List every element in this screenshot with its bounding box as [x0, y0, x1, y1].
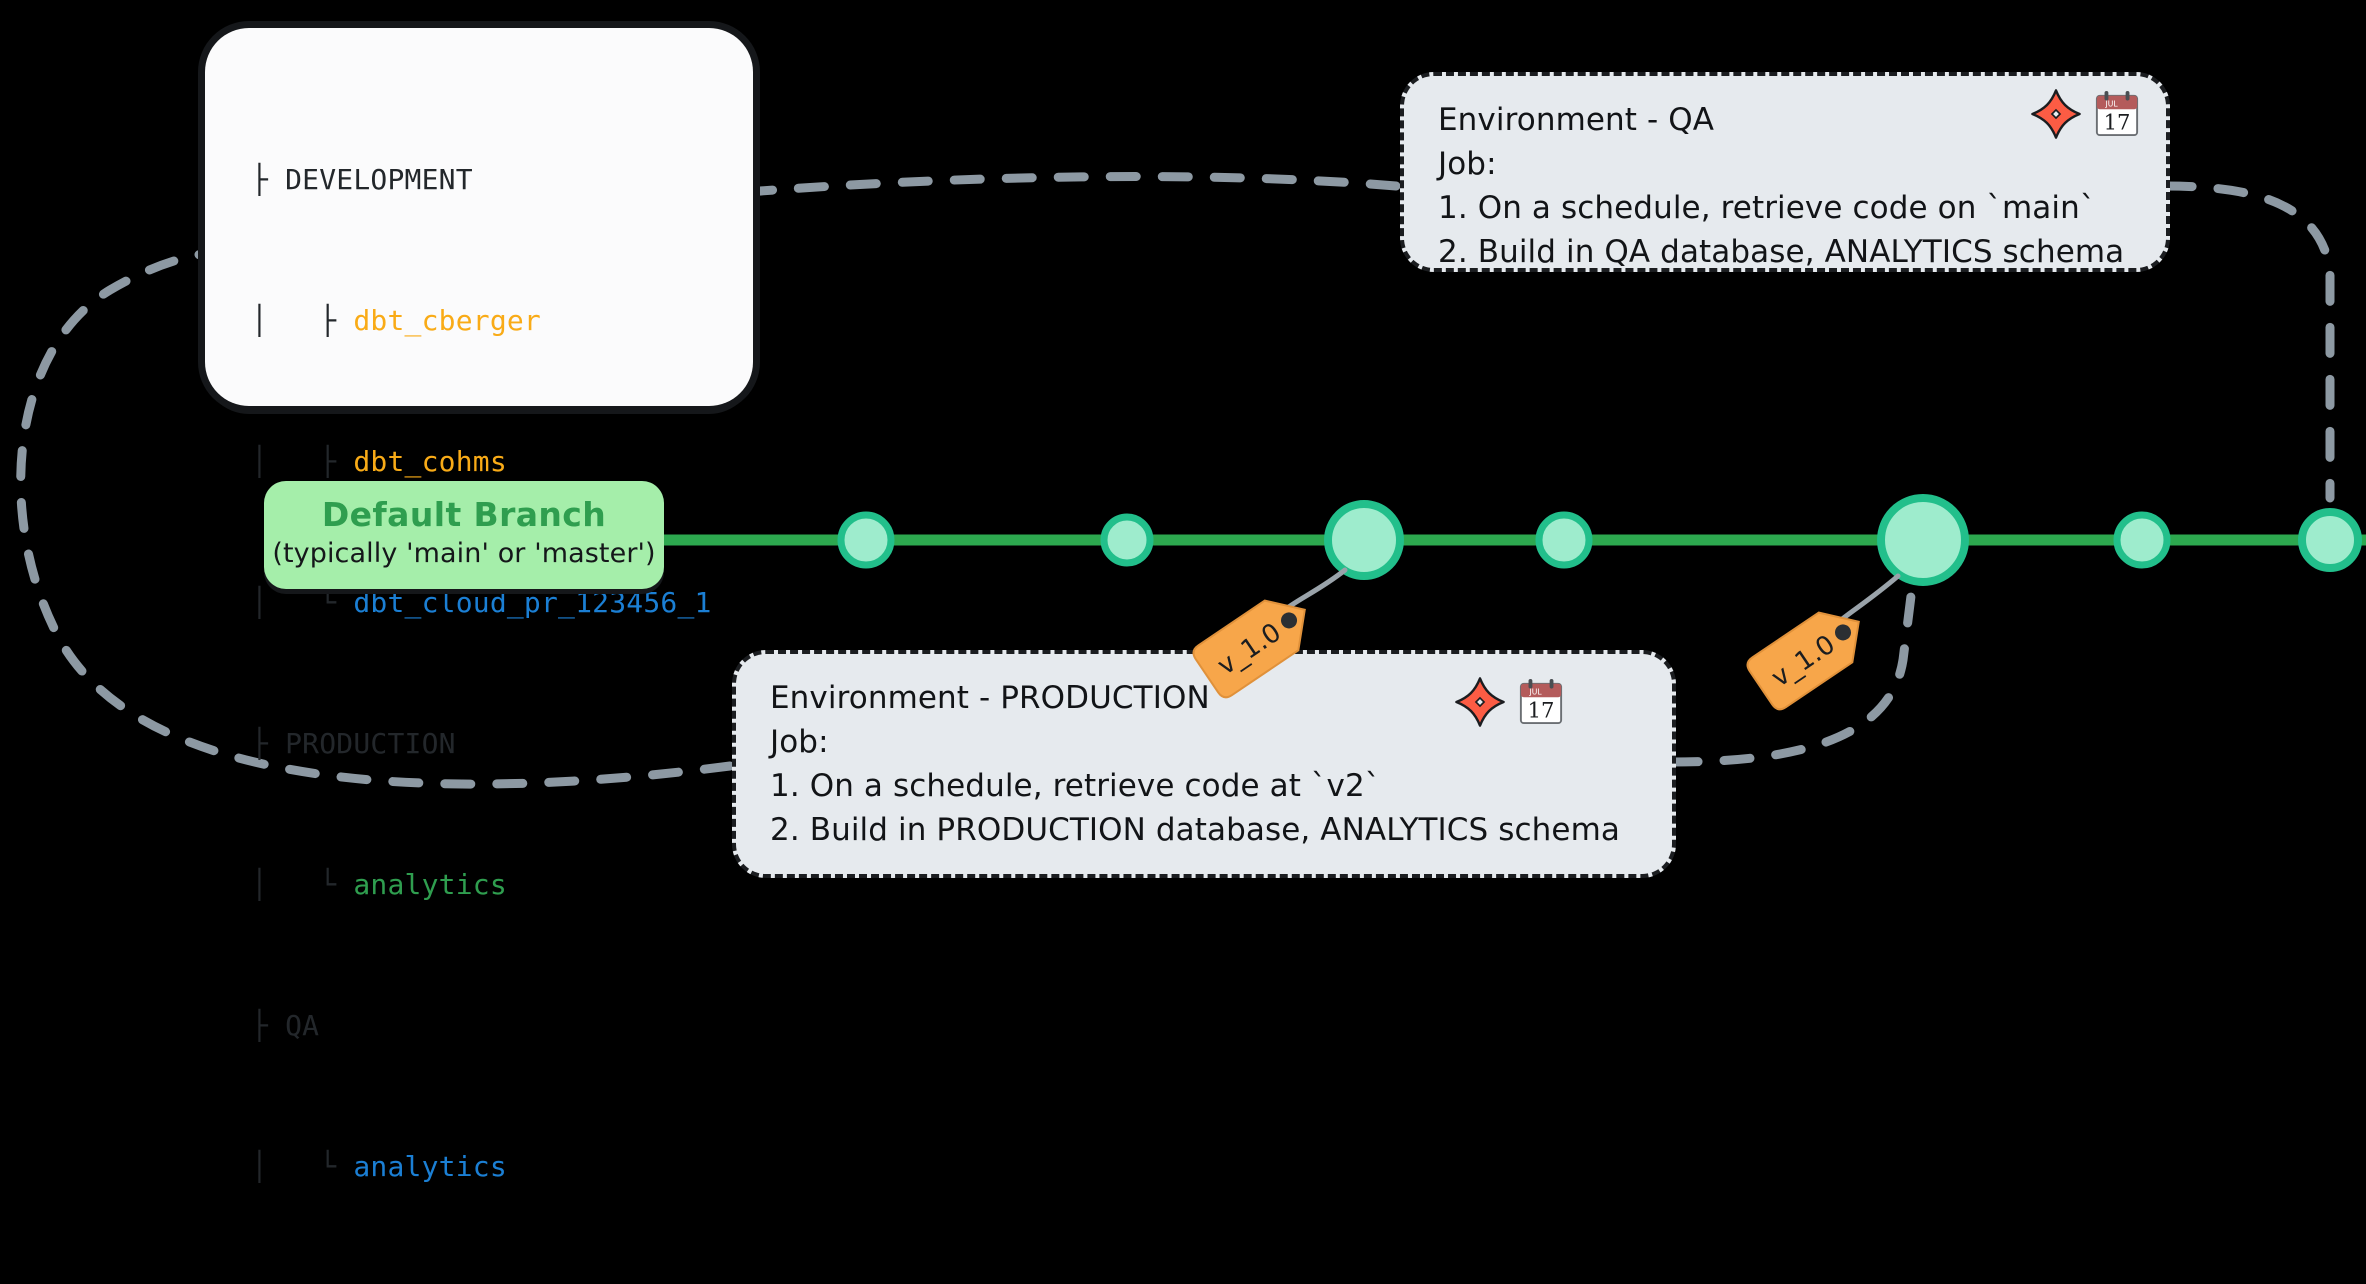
note-job-label: Job:: [1438, 142, 2146, 186]
version-tag[interactable]: v_1.0: [1744, 592, 1884, 712]
default-branch-title: Default Branch: [264, 495, 664, 534]
tree-row-label: analytics: [353, 1150, 507, 1183]
commit-dot[interactable]: [1328, 504, 1400, 576]
tree-row-label: PRODUCTION: [285, 727, 456, 760]
commit-dot[interactable]: [841, 515, 891, 565]
tree-branch-glyph: │ ├: [251, 304, 353, 337]
tree-row-label: analytics: [353, 868, 507, 901]
tree-row: │ ├ dbt_cberger: [251, 297, 712, 344]
note-step: 1. On a schedule, retrieve code on `main…: [1438, 186, 2146, 230]
tree-branch-glyph: │ ├: [251, 445, 353, 478]
tree-branch-glyph: │ └: [251, 586, 353, 619]
tree-row: │ └ analytics: [251, 861, 712, 908]
note-step: 1. On a schedule, retrieve code at `v2`: [770, 764, 1652, 808]
commit-dot[interactable]: [1881, 498, 1965, 582]
default-branch-subtitle: (typically 'main' or 'master'): [264, 538, 664, 569]
note-title: Environment - QA: [1438, 98, 2146, 142]
tree-row-label: QA: [285, 1009, 319, 1042]
tree-row-label: dbt_cohms: [353, 445, 507, 478]
tree-row: ├ QA: [251, 1002, 712, 1049]
tree-row: ├ PRODUCTION: [251, 720, 712, 767]
tree-row-label: dbt_cloud_pr_123456_1: [353, 586, 711, 619]
diagram-canvas: ├ DEVELOPMENT │ ├ dbt_cberger │ ├ dbt_co…: [0, 0, 2366, 888]
commit-dot[interactable]: [2302, 512, 2358, 568]
commit-dot[interactable]: [1104, 517, 1150, 563]
tree-branch-glyph: │ └: [251, 1150, 353, 1183]
default-branch-label: Default Branch (typically 'main' or 'mas…: [264, 481, 664, 589]
commit-dot[interactable]: [2117, 515, 2167, 565]
tree-row: │ └ analytics: [251, 1143, 712, 1190]
note-body: Environment - QA Job: 1. On a schedule, …: [1438, 98, 2146, 274]
version-tag[interactable]: v_1.0: [1190, 580, 1330, 700]
tree-branch-glyph: │ └: [251, 868, 353, 901]
tree-row-label: DEVELOPMENT: [285, 163, 473, 196]
environment-qa-note: JUL 17 Environment - QA Job: 1. On a sch…: [1400, 72, 2170, 272]
tree-row-label: dbt_cberger: [353, 304, 541, 337]
environments-folder-tree-card: ├ DEVELOPMENT │ ├ dbt_cberger │ ├ dbt_co…: [205, 28, 753, 406]
tree-row: │ ├ dbt_cohms: [251, 438, 712, 485]
tree-branch-glyph: ├: [251, 727, 285, 760]
note-step: 2. Build in QA database, ANALYTICS schem…: [1438, 230, 2146, 274]
folder-tree-list: ├ DEVELOPMENT │ ├ dbt_cberger │ ├ dbt_co…: [251, 62, 712, 1284]
note-step: 2. Build in PRODUCTION database, ANALYTI…: [770, 808, 1652, 852]
tree-row: ├ DEVELOPMENT: [251, 156, 712, 203]
tree-branch-glyph: ├: [251, 1009, 285, 1042]
note-job-label: Job:: [770, 720, 1652, 764]
tree-branch-glyph: ├: [251, 163, 285, 196]
note-body: Environment - PRODUCTION Job: 1. On a sc…: [770, 676, 1652, 852]
commit-dot[interactable]: [1539, 515, 1589, 565]
